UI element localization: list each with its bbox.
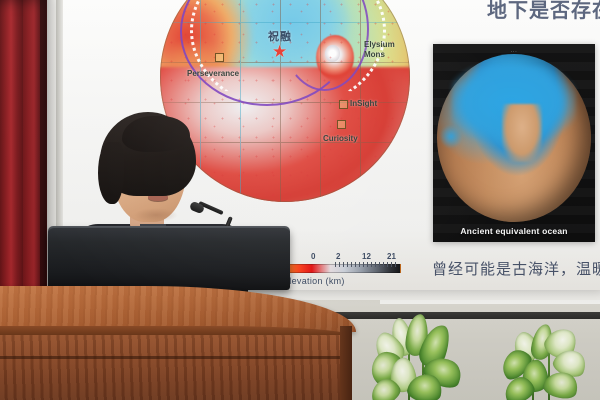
podium-body-woodgrain (0, 335, 348, 400)
ancient-ocean-figure: ··· Ancient equivalent ocean (433, 44, 595, 242)
site-marker-insight (339, 100, 348, 109)
ocean-western-inlet (440, 125, 462, 149)
slide-caption: 曾经可能是古海洋，温暖湿 (432, 258, 600, 279)
ancient-ocean-caption: Ancient equivalent ocean (433, 226, 595, 236)
colorbar-tick-3: 21 (387, 252, 396, 261)
potted-plant-left (364, 318, 474, 400)
colorbar-tick-2: 12 (362, 252, 371, 261)
speaker-hair-side (98, 142, 124, 204)
site-marker-curiosity (337, 120, 346, 129)
colorbar-tick-0: 0 (311, 252, 315, 261)
wall-trim-light (380, 300, 600, 304)
podium-seam (0, 356, 348, 359)
label-insight: InSight (350, 99, 377, 108)
mars-ocean-globe (437, 54, 591, 222)
colorbar-minor-ticks (335, 262, 399, 267)
slide-headline: 地下是否存在 (487, 0, 600, 23)
speaker-chin-shadow (134, 208, 178, 222)
presentation-photo: 地下是否存在 (0, 0, 600, 400)
colorbar-label: Elevation (km) (283, 276, 399, 286)
speaker-hair-fringe (122, 116, 190, 152)
zhurong-landing-star: ★ (272, 43, 287, 60)
ocean-landmass (502, 104, 542, 161)
site-marker-perseverance (215, 53, 224, 62)
wooden-podium (0, 286, 356, 400)
podium-right-edge (340, 326, 352, 400)
label-curiosity: Curiosity (323, 134, 358, 143)
podium-lip (0, 326, 348, 335)
colorbar-tick-1: 2 (336, 252, 340, 261)
potted-plant-right (492, 326, 600, 400)
elevation-colorbar: 0 2 12 21 Elevation (km) (283, 252, 399, 286)
label-perseverance: Perseverance (187, 69, 239, 78)
dell-monitor[interactable]: DELL (48, 228, 290, 290)
label-elysium-mons: Elysium Mons (364, 40, 404, 60)
